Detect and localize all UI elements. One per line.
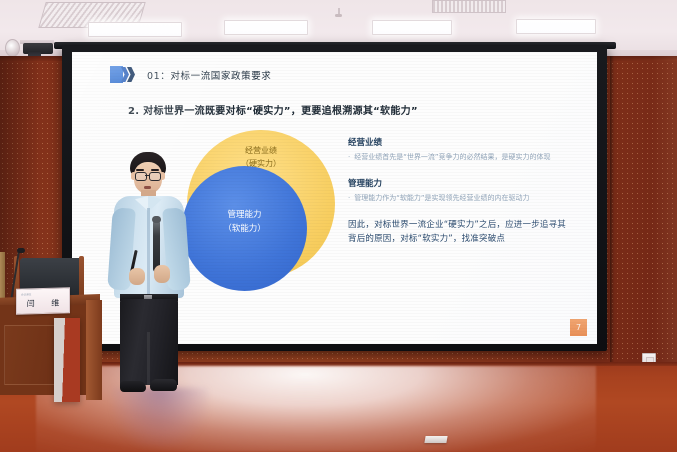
- handheld-microphone-head: [152, 216, 161, 223]
- chevron-arrow-icon: [110, 66, 138, 83]
- nameplate-subtitle: 会议席位: [21, 292, 31, 296]
- glasses-bridge-icon: [145, 175, 149, 176]
- ceiling-air-vent-right: [432, 0, 506, 13]
- body-section2-bullet-text: 管理能力作为“软能力”是实现领先经营业绩的内在驱动力: [354, 193, 529, 204]
- body-section2-heading: 管理能力: [348, 177, 570, 189]
- glasses-lens-right-icon: [149, 172, 161, 181]
- nameplate-name: 闫 维: [17, 297, 69, 309]
- presenter: [96, 152, 208, 402]
- shirt-placket: [147, 208, 150, 296]
- presenter-eyebrow-right: [151, 169, 159, 171]
- bullet-dot-icon: ·: [348, 193, 350, 204]
- wall-edge-right: [610, 56, 614, 366]
- trouser-leg-gap: [147, 332, 150, 385]
- podium: [54, 318, 80, 402]
- venn-outer-label: 经营业绩 （硬实力）: [207, 144, 315, 170]
- bullet-dot-icon: ·: [348, 152, 350, 163]
- sprinkler-icon: [335, 14, 342, 17]
- venn-outer-label-line1: 经营业绩: [207, 144, 315, 157]
- slide-page-number-badge: 7: [570, 319, 587, 336]
- body-section1-heading: 经营业绩: [348, 136, 570, 148]
- chair-arm-right: [79, 256, 84, 300]
- slide-body-text: 经营业绩 · 经营业绩首先是“世界一流”竞争力的必然结果，是硬实力的体现 管理能…: [348, 136, 570, 246]
- microphone-head-icon: [17, 248, 25, 253]
- conference-room-photo: 01：对标一流国家政策要求 2. 对标世界一流既要对标“硬实力”，更要追根溯源其…: [0, 0, 677, 452]
- ceiling-light-panel-4: [516, 19, 596, 34]
- desk-nameplate: 会议席位 闫 维: [16, 287, 70, 314]
- slide-headline: 2. 对标世界一流既要对标“硬实力”，更要追根溯源其“软能力”: [128, 102, 418, 117]
- body-conclusion: 因此，对标世界一流企业“硬实力”之后，应进一步追寻其背后的原因，对标“软实力”，…: [348, 218, 570, 246]
- ceiling-light-panel-3: [372, 20, 452, 35]
- desk-folder: [0, 252, 5, 302]
- glasses-lens-left-icon: [135, 172, 147, 181]
- presenter-shoe-right: [150, 379, 177, 391]
- presenter-hand-right: [154, 265, 170, 283]
- presenter-mouth: [144, 186, 151, 189]
- ceiling-speaker-icon: [5, 39, 20, 57]
- presenter-shoe-left: [120, 381, 146, 392]
- slide-kicker-text: 01：对标一流国家政策要求: [147, 68, 271, 82]
- paper-on-floor: [424, 436, 447, 443]
- ceiling-light-panel-1: [88, 22, 182, 37]
- wall-corner-highlight: [652, 56, 677, 366]
- presenter-eyebrow-left: [136, 169, 144, 171]
- venn-outer-label-line2: （硬实力）: [207, 157, 315, 170]
- body-section1-bullet: · 经营业绩首先是“世界一流”竞争力的必然结果，是硬实力的体现: [348, 152, 570, 163]
- slide-kicker: 01：对标一流国家政策要求: [110, 66, 271, 83]
- presenter-hand-left: [129, 268, 145, 285]
- ceiling-light-panel-2: [224, 20, 308, 35]
- body-section1-bullet-text: 经营业绩首先是“世界一流”竞争力的必然结果，是硬实力的体现: [354, 152, 550, 163]
- body-section2-bullet: · 管理能力作为“软能力”是实现领先经营业绩的内在驱动力: [348, 193, 570, 204]
